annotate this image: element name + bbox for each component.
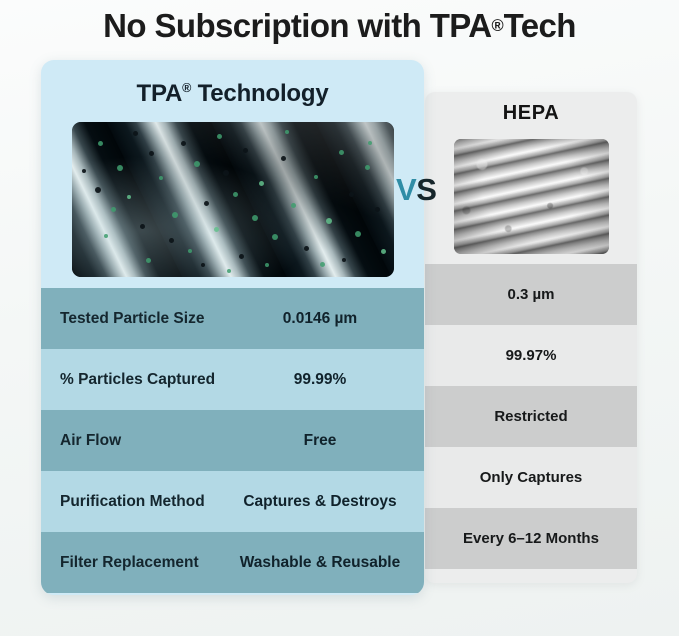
spec-label: % Particles Captured <box>60 371 232 389</box>
table-row: Purification Method Captures & Destroys <box>41 471 424 532</box>
particle-dot <box>368 141 372 145</box>
tpa-spec-list: Tested Particle Size 0.0146 µm % Particl… <box>41 288 424 593</box>
hepa-value: Only Captures <box>480 469 583 486</box>
particle-dot <box>355 231 361 237</box>
table-row: 99.97% <box>425 325 637 386</box>
particle-dot <box>259 181 264 186</box>
particle-dot <box>111 207 116 212</box>
tpa-card-title: TPA® Technology <box>41 80 424 108</box>
particle-dot <box>127 195 131 199</box>
particle-dot <box>223 170 229 176</box>
particle-dot <box>181 141 186 146</box>
particle-dot <box>172 212 178 218</box>
hepa-value: 99.97% <box>506 347 557 364</box>
particle-dot <box>326 218 332 224</box>
hepa-spec-list: 0.3 µm 99.97% Restricted Only Captures E… <box>425 264 637 569</box>
table-row: Tested Particle Size 0.0146 µm <box>41 288 424 349</box>
page-title-text-after: Tech <box>504 7 576 45</box>
versus-letter-v: V <box>396 172 416 207</box>
table-row: Only Captures <box>425 447 637 508</box>
particle-dot <box>272 234 278 240</box>
particle-dot <box>291 203 296 208</box>
particle-dot <box>339 150 344 155</box>
table-row: Every 6–12 Months <box>425 508 637 569</box>
particle-dot <box>375 207 380 212</box>
particle-dot <box>194 161 200 167</box>
particle-dot <box>285 130 289 134</box>
registered-mark-icon: ® <box>182 81 191 95</box>
spec-label: Purification Method <box>60 493 232 511</box>
tpa-card-title-suffix: Technology <box>191 80 328 107</box>
particle-dot <box>243 148 248 153</box>
particle-dot <box>381 249 386 254</box>
particle-dot <box>117 165 123 171</box>
particle-dot <box>169 238 174 243</box>
particle-dot <box>233 192 238 197</box>
spec-value: Free <box>232 432 416 450</box>
spec-value: 99.99% <box>232 371 416 389</box>
hepa-filter-image <box>454 139 609 254</box>
versus-letter-s: S <box>416 172 436 207</box>
spec-value: Washable & Reusable <box>232 554 416 572</box>
table-row: % Particles Captured 99.99% <box>41 349 424 410</box>
particle-dot <box>365 165 370 170</box>
hepa-value: Every 6–12 Months <box>463 530 599 547</box>
particle-dot <box>304 246 309 251</box>
particle-dot <box>188 249 192 253</box>
versus-badge: VS <box>396 174 436 205</box>
particle-dot <box>159 176 163 180</box>
particle-dot <box>217 134 222 139</box>
particle-dot <box>349 192 354 197</box>
infographic-root: No Subscription with TPA® Tech HEPA 0.3 … <box>0 0 679 636</box>
spec-label: Air Flow <box>60 432 232 450</box>
particle-dot <box>104 234 108 238</box>
hepa-value: 0.3 µm <box>508 286 555 303</box>
hepa-value: Restricted <box>494 408 567 425</box>
hepa-comparison-card: HEPA 0.3 µm 99.97% Restricted Only Captu… <box>425 92 637 583</box>
hepa-card-title: HEPA <box>425 102 637 125</box>
particle-dot <box>149 151 154 156</box>
spec-value: Captures & Destroys <box>232 493 416 511</box>
page-title: No Subscription with TPA® Tech <box>0 0 679 52</box>
table-row: Air Flow Free <box>41 410 424 471</box>
particle-dot <box>82 169 86 173</box>
spec-label: Tested Particle Size <box>60 310 232 328</box>
spec-value: 0.0146 µm <box>232 310 416 328</box>
particle-dot <box>133 131 138 136</box>
particle-dot <box>95 187 101 193</box>
particle-dot <box>140 224 145 229</box>
table-row: 0.3 µm <box>425 264 637 325</box>
table-row: Filter Replacement Washable & Reusable <box>41 532 424 593</box>
registered-mark-icon: ® <box>491 17 503 36</box>
page-title-text-before: No Subscription with TPA <box>103 7 491 45</box>
particle-dot <box>342 258 346 262</box>
table-row: Restricted <box>425 386 637 447</box>
particle-dot <box>252 215 258 221</box>
particle-dot <box>239 254 244 259</box>
particle-dot <box>227 269 231 273</box>
particle-dot <box>320 262 325 267</box>
tpa-card-title-text: TPA <box>137 80 183 107</box>
tpa-comparison-card: TPA® Technology Tested Particle Size 0.0… <box>41 60 424 595</box>
particle-dot <box>201 263 205 267</box>
tpa-filter-image <box>72 122 394 277</box>
particle-dot <box>98 141 103 146</box>
particle-dot <box>265 263 269 267</box>
hepa-vignette-overlay <box>454 139 609 254</box>
spec-label: Filter Replacement <box>60 554 232 572</box>
particle-dot <box>281 156 286 161</box>
particle-dot <box>146 258 151 263</box>
tpa-particle-overlay <box>72 122 394 277</box>
particle-dot <box>204 201 209 206</box>
particle-dot <box>314 175 318 179</box>
particle-dot <box>214 227 219 232</box>
